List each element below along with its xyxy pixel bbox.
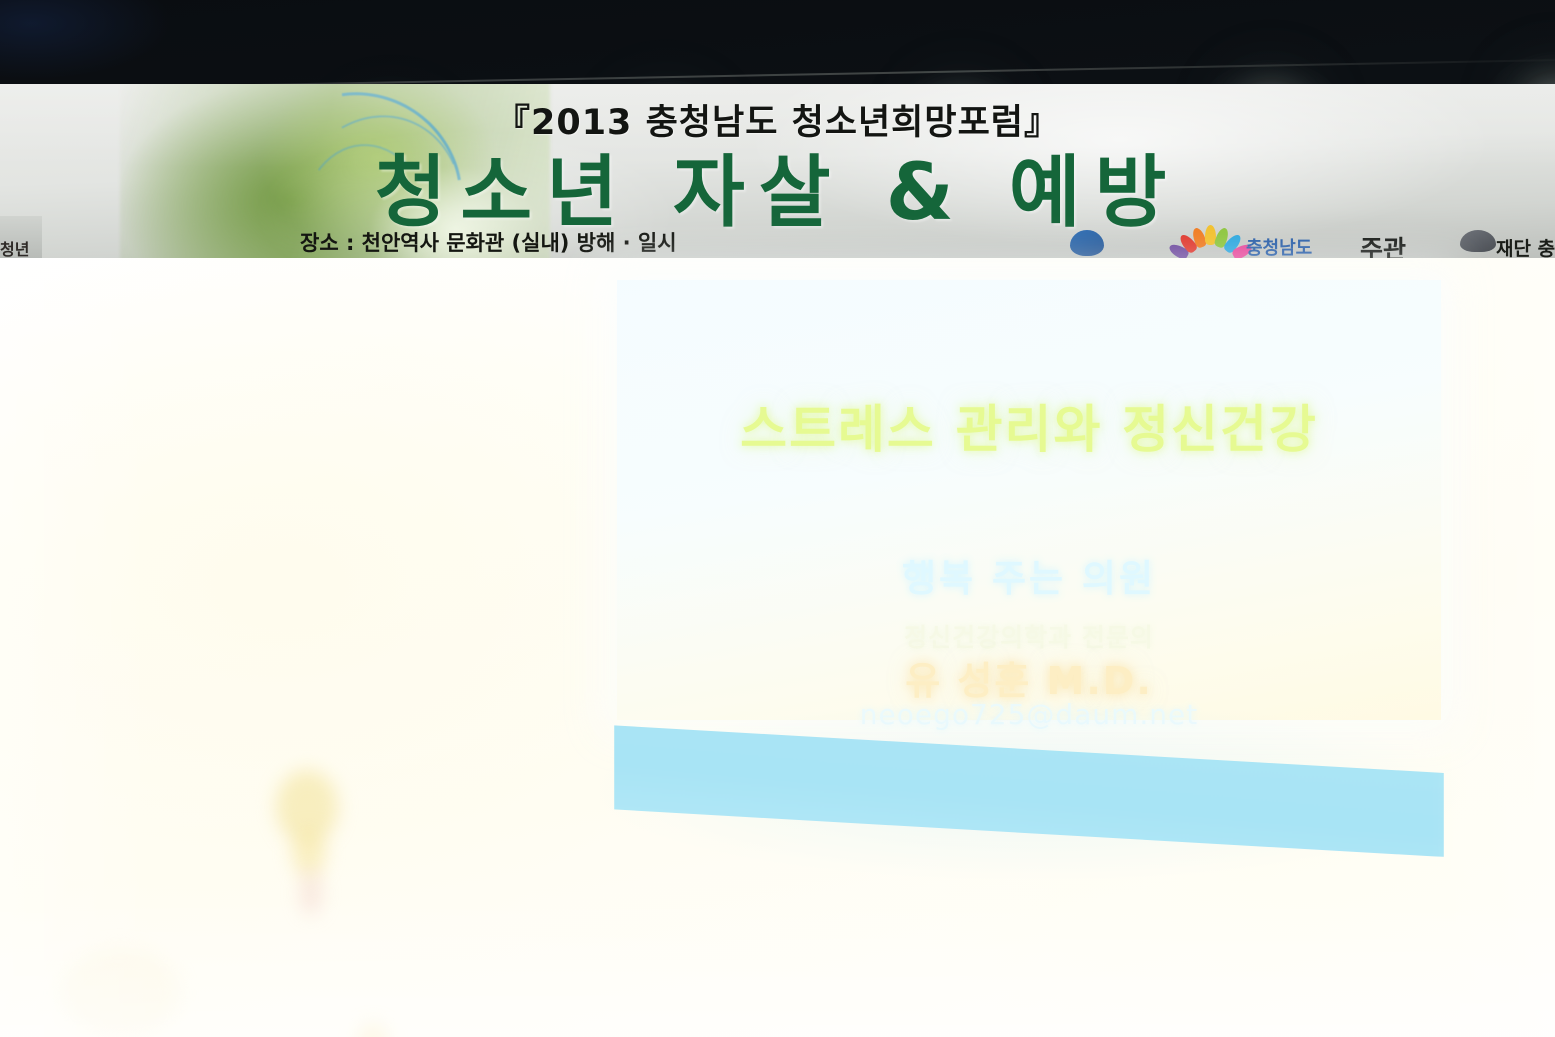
banner-venue-line: 장소 : 천안역사 문화관 (실내) 방해 · 일시	[300, 227, 677, 257]
slide-clinic-name: 행복 주는 의원	[617, 548, 1441, 602]
sponsor-name-chungnam: 충청남도	[1246, 234, 1312, 260]
projected-slide: 스트레스 관리와 정신건강 행복 주는 의원 정신건강의학과 전문의 유 성훈 …	[617, 280, 1441, 720]
slide-title: 스트레스 관리와 정신건강	[617, 388, 1441, 462]
chungcheongnam-do-petal-logo-icon	[1180, 224, 1240, 258]
slide-presenter-email: neoego725@daum.net	[617, 698, 1441, 731]
lens-flare-smudge	[276, 770, 338, 844]
slide-specialty: 정신건강의학과 전문의	[617, 618, 1441, 654]
banner-headline: 청소년 자살 & 예방	[0, 130, 1555, 242]
lens-flare-smudge	[356, 1024, 390, 1037]
sponsor-foundation-name: 재단 충청남도	[1496, 234, 1555, 261]
slide-presenter-name: 유 성훈 M.D.	[617, 650, 1441, 705]
gray-shield-logo-icon	[1460, 230, 1496, 252]
lens-flare-smudge	[60, 948, 180, 1037]
lens-flare-smudge	[292, 830, 326, 876]
blue-leaf-logo-icon	[1070, 230, 1104, 256]
banner-left-edge-text: 청년	[0, 236, 29, 260]
lens-flare-smudge	[300, 870, 322, 916]
conference-photo-scene: 『2013 충청남도 청소년희망포럼』 청소년 자살 & 예방 장소 : 천안역…	[0, 0, 1555, 1037]
stage-banner: 『2013 충청남도 청소년희망포럼』 청소년 자살 & 예방 장소 : 천안역…	[0, 84, 1555, 270]
